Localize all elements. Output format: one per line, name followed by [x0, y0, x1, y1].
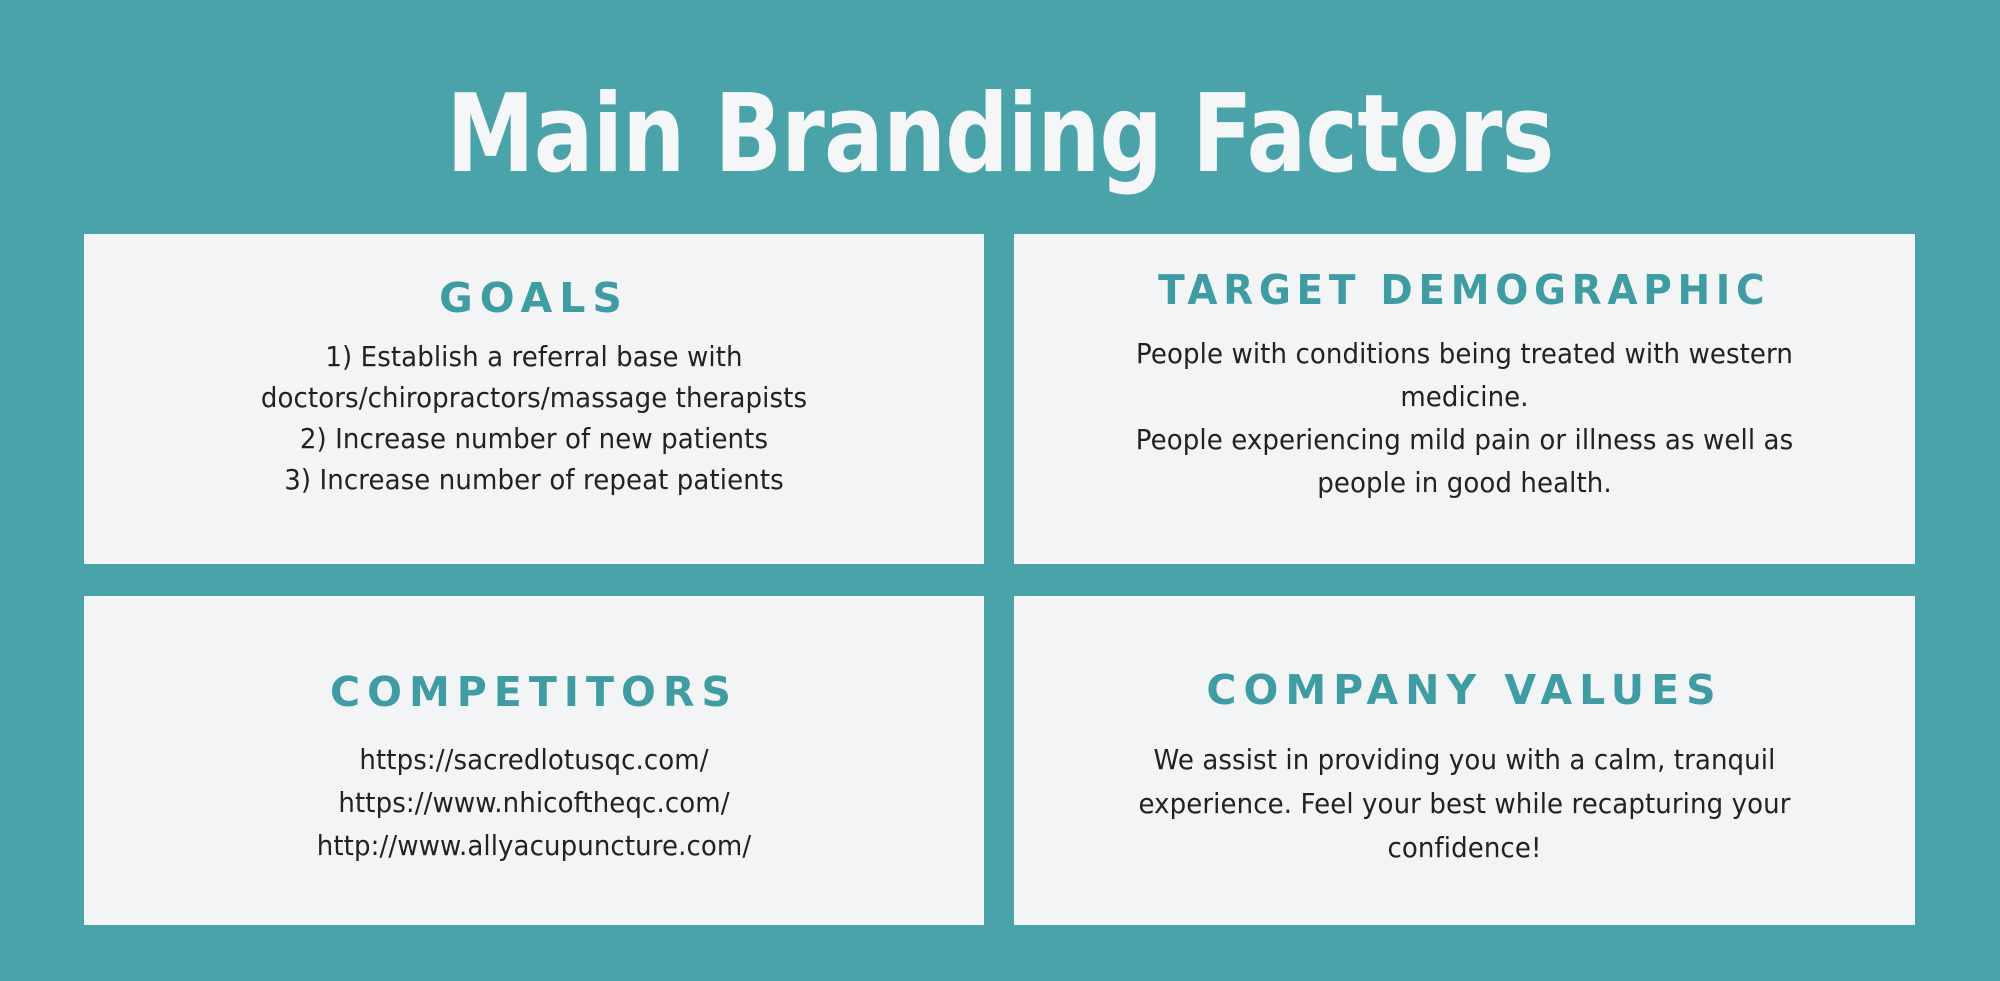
card-target-demographic-body: People with conditions being treated wit…: [1070, 332, 1860, 504]
card-target-demographic-line: medicine.: [1070, 375, 1860, 418]
card-company-values-heading: COMPANY VALUES: [1206, 664, 1722, 716]
card-goals-heading: GOALS: [439, 272, 629, 324]
card-target-demographic-line: People experiencing mild pain or illness…: [1070, 418, 1860, 461]
card-goals-line: 1) Establish a referral base with: [140, 336, 929, 377]
card-goals-line: 3) Increase number of repeat patients: [140, 459, 929, 500]
card-company-values: COMPANY VALUES We assist in providing yo…: [1014, 596, 1915, 925]
card-grid: GOALS 1) Establish a referral base with …: [84, 234, 1915, 925]
card-target-demographic-line: people in good health.: [1070, 461, 1860, 504]
card-target-demographic-heading: TARGET DEMOGRAPHIC: [1158, 264, 1770, 316]
competitor-url[interactable]: https://sacredlotusqc.com/: [140, 738, 929, 781]
card-company-values-line: experience. Feel your best while recaptu…: [1070, 782, 1860, 826]
card-company-values-body: We assist in providing you with a calm, …: [1070, 738, 1860, 870]
card-company-values-line: confidence!: [1070, 826, 1860, 870]
card-competitors-heading: COMPETITORS: [330, 666, 738, 718]
competitor-url[interactable]: http://www.allyacupuncture.com/: [140, 824, 929, 867]
card-target-demographic-line: People with conditions being treated wit…: [1070, 332, 1860, 375]
card-goals-line: doctors/chiropractors/massage therapists: [140, 377, 929, 418]
card-target-demographic: TARGET DEMOGRAPHIC People with condition…: [1014, 234, 1915, 564]
page-title: Main Branding Factors: [180, 76, 1820, 194]
competitor-url[interactable]: https://www.nhicoftheqc.com/: [140, 781, 929, 824]
card-competitors: COMPETITORS https://sacredlotusqc.com/ h…: [84, 596, 984, 925]
card-goals-line: 2) Increase number of new patients: [140, 418, 929, 459]
card-goals: GOALS 1) Establish a referral base with …: [84, 234, 984, 564]
card-goals-body: 1) Establish a referral base with doctor…: [140, 336, 929, 500]
card-company-values-line: We assist in providing you with a calm, …: [1070, 738, 1860, 782]
card-competitors-body: https://sacredlotusqc.com/ https://www.n…: [140, 738, 929, 867]
branding-factors-poster: Main Branding Factors GOALS 1) Establish…: [0, 0, 2000, 981]
